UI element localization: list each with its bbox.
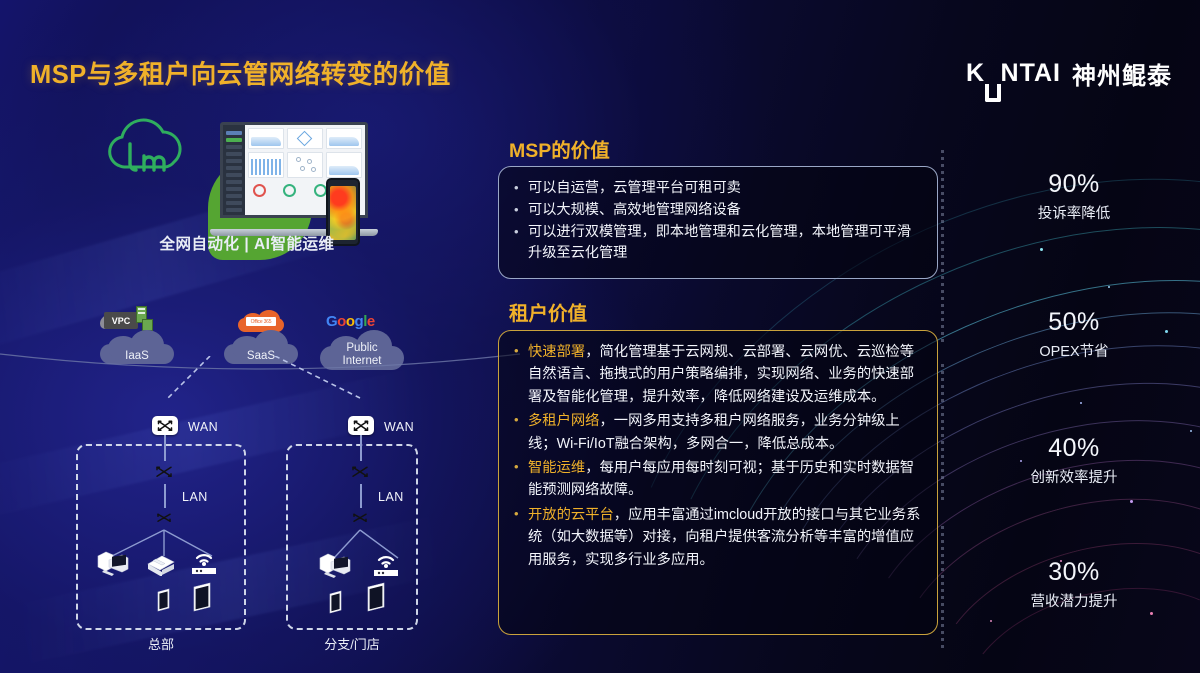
- lan-switch-icon: [148, 460, 180, 484]
- gauge-ring: [253, 184, 266, 197]
- wan-label: WAN: [188, 420, 218, 434]
- stat-revenue: 30% 营收潜力提升: [948, 558, 1200, 611]
- gauge-ring: [314, 184, 327, 197]
- lan-label: LAN: [378, 490, 404, 504]
- illustration-caption: 全网自动化 | AI智能运维: [82, 232, 412, 254]
- server-icon: [136, 306, 153, 331]
- link: [164, 435, 166, 461]
- wan-label: WAN: [384, 420, 414, 434]
- bullet-text: ，简化管理基于云网规、云部署、云网优、云巡检等自然语言、拖拽式的用户策略编排，实…: [528, 344, 914, 405]
- list-item: 多租户网络，一网多用支持多租户网络服务，业务分钟级上线；Wi-Fi/IoT融合架…: [512, 410, 923, 455]
- dashboard-bar-card: [248, 152, 284, 178]
- wan-router-icon: [348, 416, 374, 435]
- stat-innovation: 40% 创新效率提升: [948, 434, 1200, 487]
- google-logo-icon: Google: [326, 313, 375, 330]
- office365-cloud-icon: Office 365: [238, 310, 284, 332]
- lan-switch-icon: [344, 506, 376, 530]
- tablet-icon: [156, 588, 172, 617]
- gauge-ring: [283, 184, 296, 197]
- bullet-lead: 多租户网络: [528, 413, 599, 429]
- msp-bullet-list: 可以自运营，云管理平台可租可卖 可以大规模、高效地管理网络设备 可以进行双模管理…: [512, 178, 921, 264]
- dashboard-chart-card: [326, 152, 362, 178]
- stat-value: 90%: [948, 170, 1200, 199]
- access-links: [286, 528, 426, 568]
- lan-label: LAN: [182, 490, 208, 504]
- vpc-badge: VPC: [104, 312, 138, 329]
- imcloud-logo-icon: [100, 116, 196, 197]
- msp-section-heading: MSP的价值: [509, 134, 610, 163]
- lan-switch-icon: [344, 460, 376, 484]
- pc-icon: [96, 550, 130, 581]
- dashboard-topology-card: [287, 128, 323, 149]
- office365-label: Office 365: [246, 317, 276, 326]
- page-title: MSP与多租户向云管网络转变的价值: [30, 54, 451, 91]
- wifi-ap-icon: [370, 546, 402, 583]
- logo-latin: KNTAI: [966, 59, 1061, 88]
- printer-icon: [144, 552, 176, 581]
- site-label: 分支/门店: [286, 634, 418, 653]
- stat-value: 50%: [948, 308, 1200, 337]
- pc-icon: [318, 552, 352, 583]
- wan-router-icon: [152, 416, 178, 435]
- slide-canvas: MSP与多租户向云管网络转变的价值 KNTAI 神州鲲泰: [0, 0, 1200, 673]
- tenant-bullet-list: 快速部署，简化管理基于云网规、云部署、云网优、云巡检等自然语言、拖拽式的用户策略…: [512, 341, 923, 571]
- tablet-icon: [328, 590, 344, 619]
- link: [164, 484, 166, 508]
- vertical-dotted-divider: [941, 150, 944, 650]
- tenant-section-heading: 租户价值: [509, 297, 587, 326]
- dashboard-chart-card: [248, 128, 284, 149]
- link: [360, 435, 362, 461]
- stat-complaint-rate: 90% 投诉率降低: [948, 170, 1200, 223]
- wifi-ap-icon: [188, 544, 220, 581]
- site-label: 总部: [76, 634, 246, 653]
- stat-value: 30%: [948, 558, 1200, 587]
- stat-label: OPEX节省: [948, 340, 1200, 361]
- stat-opex: 50% OPEX节省: [948, 308, 1200, 361]
- msp-value-box: 可以自运营，云管理平台可租可卖 可以大规模、高效地管理网络设备 可以进行双模管理…: [498, 166, 938, 279]
- tenant-value-box: 快速部署，简化管理基于云网规、云部署、云网优、云巡检等自然语言、拖拽式的用户策略…: [498, 330, 938, 635]
- link: [360, 484, 362, 508]
- stat-label: 营收潜力提升: [948, 590, 1200, 611]
- dashboard-chart-card: [326, 128, 362, 149]
- list-item: 可以自运营，云管理平台可租可卖: [512, 178, 921, 199]
- list-item: 智能运维，每用户每应用每时刻可视；基于历史和实时数据智能预测网络故障。: [512, 457, 923, 502]
- list-item: 开放的云平台，应用丰富通过imcloud开放的接口与其它业务系统（如大数据等）对…: [512, 504, 923, 571]
- list-item: 快速部署，简化管理基于云网规、云部署、云网优、云巡检等自然语言、拖拽式的用户策略…: [512, 341, 923, 408]
- tablet-icon: [192, 582, 214, 617]
- dashboard-nodes-card: [287, 152, 323, 178]
- stat-value: 40%: [948, 434, 1200, 463]
- bullet-lead: 开放的云平台: [528, 507, 614, 523]
- stat-label: 投诉率降低: [948, 202, 1200, 223]
- stat-label: 创新效率提升: [948, 466, 1200, 487]
- lan-switch-icon: [148, 506, 180, 530]
- logo-cjk: 神州鲲泰: [1072, 56, 1172, 91]
- list-item: 可以进行双模管理，即本地管理和云化管理，本地管理可平滑升级至云化管理: [512, 222, 921, 264]
- brand-logo: KNTAI 神州鲲泰: [966, 56, 1172, 91]
- laptop-device: [210, 122, 378, 246]
- tablet-icon: [366, 582, 388, 617]
- dashboard-sidebar: [223, 125, 245, 215]
- bullet-lead: 快速部署: [528, 344, 585, 360]
- list-item: 可以大规模、高效地管理网络设备: [512, 200, 921, 221]
- bullet-lead: 智能运维: [528, 460, 585, 476]
- bullet-text: ，每用户每应用每时刻可视；基于历史和实时数据智能预测网络故障。: [528, 460, 914, 498]
- network-topology-diagram: WAN LAN: [60, 378, 460, 663]
